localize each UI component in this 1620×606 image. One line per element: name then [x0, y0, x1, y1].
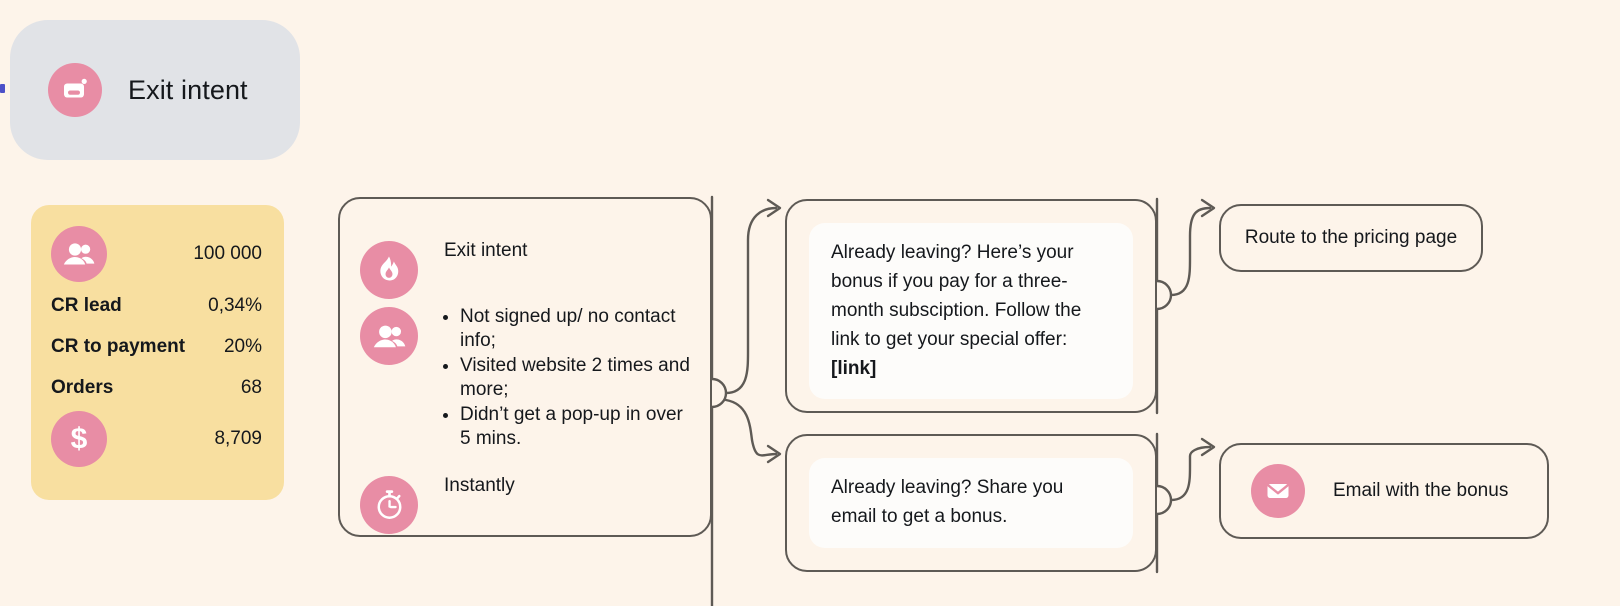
message-email-capture-card[interactable]: Already leaving? Share you email to get …: [785, 434, 1157, 572]
message-bubble: Already leaving? Here’s your bonus if yo…: [809, 223, 1133, 399]
message-pricing-bonus-card[interactable]: Already leaving? Here’s your bonus if yo…: [785, 199, 1157, 413]
trigger-label: Exit intent: [444, 239, 527, 263]
branch-down-line: [726, 400, 776, 455]
trigger-row: Exit intent: [360, 239, 694, 299]
timing-row: Instantly: [360, 474, 694, 534]
stat-row-cr-to-payment: CR to payment 20%: [51, 326, 262, 367]
stats-card: 100 000 CR lead 0,34% CR to payment 20% …: [31, 205, 284, 500]
stat-value-cr-lead: 0,34%: [208, 295, 262, 317]
envelope-icon: [1251, 464, 1305, 518]
stat-label-cr-to-payment: CR to payment: [51, 336, 185, 358]
stopwatch-icon: [360, 476, 418, 534]
stat-value-revenue: 8,709: [214, 428, 262, 450]
message-text: Already leaving? Here’s your bonus if yo…: [831, 242, 1081, 350]
people-group-icon: [360, 307, 418, 365]
condition-item: Didn’t get a pop-up in over 5 mins.: [460, 403, 694, 451]
stat-row-cr-lead: CR lead 0,34%: [51, 285, 262, 326]
stat-row-orders: Orders 68: [51, 367, 262, 408]
flow-canvas: Exit intent 100 000 CR lead 0,34% CR to …: [0, 0, 1620, 606]
action-email-bonus-card[interactable]: Email with the bonus: [1219, 443, 1549, 539]
chip-label: Exit intent: [128, 75, 248, 106]
msg2-to-email-arrowhead: [1202, 439, 1214, 455]
stat-value-cr-to-payment: 20%: [224, 336, 262, 358]
stat-row-revenue: $ 8,709: [51, 408, 262, 470]
left-anchor-nub: [0, 84, 5, 93]
people-group-icon: [51, 226, 107, 282]
timing-label: Instantly: [444, 474, 515, 498]
trigger-conditions-card[interactable]: Exit intent Not signed up/ no contact in…: [338, 197, 712, 537]
dollar-icon: $: [51, 411, 107, 467]
msg1-to-route-arrowhead: [1202, 200, 1214, 216]
msg2-to-email-line: [1171, 447, 1210, 500]
action-label: Email with the bonus: [1333, 480, 1508, 502]
stat-label-orders: Orders: [51, 377, 113, 399]
condition-item: Not signed up/ no contact info;: [460, 305, 694, 353]
conditions-row: Not signed up/ no contact info; Visited …: [360, 305, 694, 452]
chip-exit-intent[interactable]: Exit intent: [10, 20, 300, 160]
stat-label-cr-lead: CR lead: [51, 295, 122, 317]
svg-text:$: $: [71, 423, 88, 456]
conditions-list: Not signed up/ no contact info; Visited …: [440, 305, 694, 451]
branch-down-arrowhead: [768, 446, 780, 462]
msg1-to-route-line: [1171, 208, 1210, 295]
stat-value-audience: 100 000: [193, 243, 262, 265]
popup-window-icon: [48, 63, 102, 117]
stat-row-audience: 100 000: [51, 223, 262, 285]
branch-up-arrowhead: [768, 200, 780, 216]
message-link[interactable]: [link]: [831, 358, 876, 379]
stat-value-orders: 68: [241, 377, 262, 399]
action-label: Route to the pricing page: [1245, 227, 1457, 249]
action-route-pricing-card[interactable]: Route to the pricing page: [1219, 204, 1483, 272]
flame-icon: [360, 241, 418, 299]
message-text: Already leaving? Share you email to get …: [831, 477, 1063, 527]
branch-up-line: [726, 208, 776, 393]
condition-item: Visited website 2 times and more;: [460, 354, 694, 402]
message-bubble: Already leaving? Share you email to get …: [809, 458, 1133, 548]
